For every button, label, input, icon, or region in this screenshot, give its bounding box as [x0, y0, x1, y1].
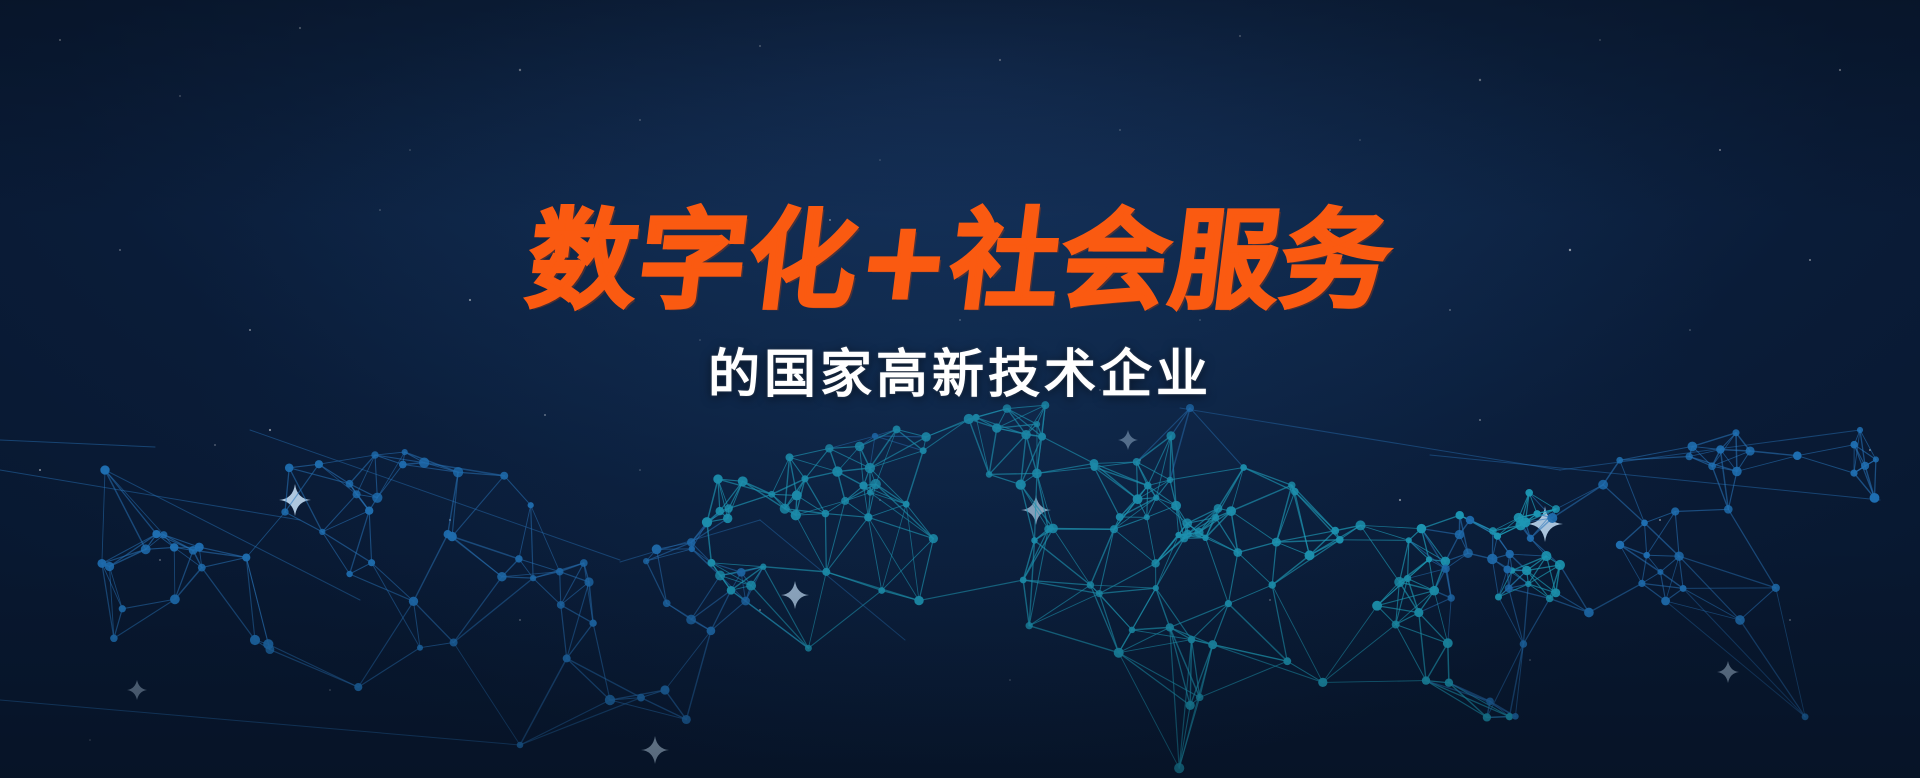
mesh-edges — [0, 405, 1880, 768]
banner-stage: 数字化+社会服务 的国家高新技术企业 — [0, 0, 1920, 778]
banner-subline: 的国家高新技术企业 — [0, 332, 1920, 407]
banner-text-block: 数字化+社会服务 的国家高新技术企业 — [0, 206, 1920, 407]
banner-headline: 数字化+社会服务 — [522, 206, 1398, 318]
